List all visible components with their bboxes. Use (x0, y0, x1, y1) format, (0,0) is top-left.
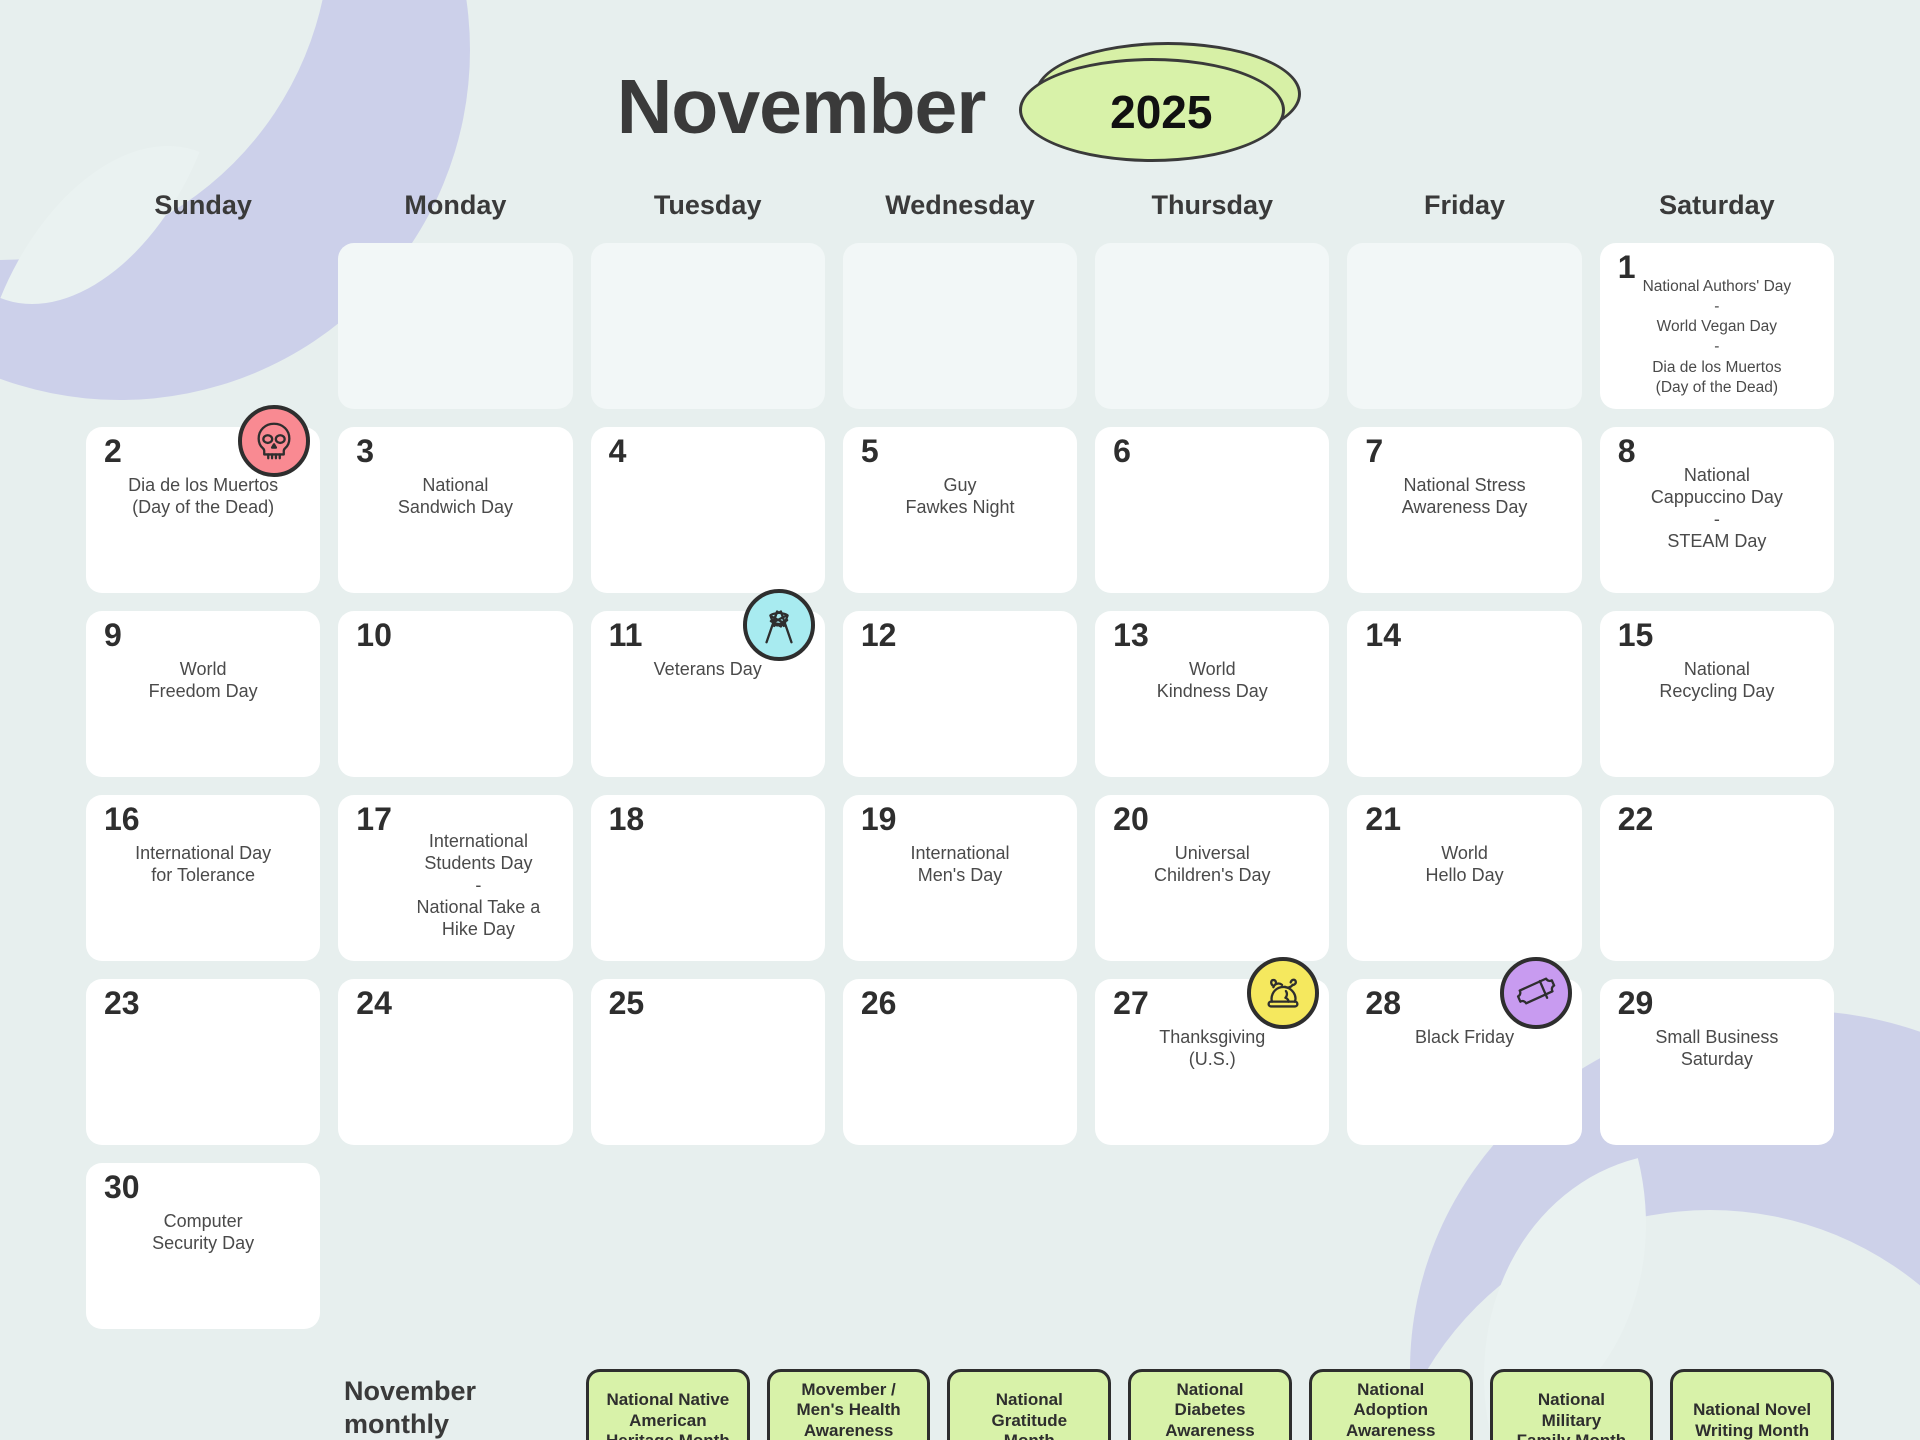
monthly-themes-section: November monthly themes and celebrations… (86, 1347, 1834, 1440)
day-number: 15 (1618, 619, 1654, 651)
year-label: 2025 (1110, 85, 1212, 139)
day-number: 30 (104, 1171, 140, 1203)
calendar-day-cell-16[interactable]: 16International Day for Tolerance (86, 795, 320, 961)
day-number: 24 (356, 987, 392, 1019)
day-number: 17 (356, 803, 392, 835)
day-number: 8 (1618, 435, 1636, 467)
monthly-themes-heading: November monthly themes and celebrations (344, 1347, 568, 1440)
day-number: 29 (1618, 987, 1654, 1019)
day-number: 11 (609, 619, 643, 651)
ticket-icon (1500, 957, 1572, 1029)
calendar-day-cell-empty (86, 243, 320, 409)
day-number: 22 (1618, 803, 1654, 835)
day-events: World Freedom Day (96, 659, 310, 703)
day-number: 23 (104, 987, 140, 1019)
calendar-day-cell-10[interactable]: 10 (338, 611, 572, 777)
calendar-day-cell-13[interactable]: 13World Kindness Day (1095, 611, 1329, 777)
monthly-theme-chip[interactable]: Movember / Men's Health Awareness Month (767, 1369, 931, 1440)
day-number: 27 (1113, 987, 1149, 1019)
day-events: Universal Children's Day (1105, 843, 1319, 887)
calendar-day-cell-22[interactable]: 22 (1600, 795, 1834, 961)
day-events: World Kindness Day (1105, 659, 1319, 703)
day-number: 2 (104, 435, 122, 467)
day-events: Computer Security Day (96, 1211, 310, 1255)
day-number: 28 (1365, 987, 1401, 1019)
calendar-day-cell-25[interactable]: 25 (591, 979, 825, 1145)
day-number: 4 (609, 435, 627, 467)
monthly-theme-chips: National Native American Heritage MonthM… (586, 1347, 1834, 1440)
month-title: November (617, 63, 986, 152)
skull-icon (238, 405, 310, 477)
year-badge: 2025 (1019, 48, 1303, 166)
calendar-day-cell-11[interactable]: 11Veterans Day (591, 611, 825, 777)
day-number: 19 (861, 803, 897, 835)
calendar-day-cell-3[interactable]: 3National Sandwich Day (338, 427, 572, 593)
calendar-day-cell-23[interactable]: 23 (86, 979, 320, 1145)
day-number: 9 (104, 619, 122, 651)
calendar-day-cell-8[interactable]: 8National Cappuccino Day - STEAM Day (1600, 427, 1834, 593)
calendar-grid: 1National Authors' Day - World Vegan Day… (86, 243, 1834, 1329)
day-number: 10 (356, 619, 392, 651)
calendar-day-cell-1[interactable]: 1National Authors' Day - World Vegan Day… (1600, 243, 1834, 409)
weekday-header-saturday: Saturday (1600, 190, 1834, 227)
calendar-day-cell-27[interactable]: 27Thanksgiving (U.S.) (1095, 979, 1329, 1145)
day-events: National Recycling Day (1610, 659, 1824, 703)
calendar-day-cell-19[interactable]: 19International Men's Day (843, 795, 1077, 961)
calendar-day-cell-26[interactable]: 26 (843, 979, 1077, 1145)
calendar-day-cell-5[interactable]: 5Guy Fawkes Night (843, 427, 1077, 593)
day-events: National Sandwich Day (348, 475, 562, 519)
calendar-day-cell-empty (591, 243, 825, 409)
calendar-day-cell-15[interactable]: 15National Recycling Day (1600, 611, 1834, 777)
monthly-theme-chip[interactable]: National Native American Heritage Month (586, 1369, 750, 1440)
calendar-day-cell-21[interactable]: 21World Hello Day (1347, 795, 1581, 961)
day-number: 18 (609, 803, 645, 835)
calendar-day-cell-9[interactable]: 9World Freedom Day (86, 611, 320, 777)
day-number: 25 (609, 987, 645, 1019)
day-number: 12 (861, 619, 897, 651)
monthly-theme-chip[interactable]: National Diabetes Awareness Month (1128, 1369, 1292, 1440)
weekday-header-row: SundayMondayTuesdayWednesdayThursdayFrid… (86, 190, 1834, 227)
day-events: International Day for Tolerance (96, 843, 310, 887)
weekday-header-thursday: Thursday (1095, 190, 1329, 227)
weekday-header-tuesday: Tuesday (591, 190, 825, 227)
monthly-theme-chip[interactable]: National Military Family Month (1490, 1369, 1654, 1440)
calendar-day-cell-20[interactable]: 20Universal Children's Day (1095, 795, 1329, 961)
day-events: National Stress Awareness Day (1357, 475, 1571, 519)
calendar-day-cell-28[interactable]: 28Black Friday (1347, 979, 1581, 1145)
day-events: Guy Fawkes Night (853, 475, 1067, 519)
weekday-header-monday: Monday (338, 190, 572, 227)
day-number: 7 (1365, 435, 1383, 467)
day-number: 26 (861, 987, 897, 1019)
calendar-day-cell-17[interactable]: 17International Students Day - National … (338, 795, 572, 961)
day-number: 16 (104, 803, 140, 835)
calendar-header: November 2025 (86, 0, 1834, 190)
calendar-day-cell-24[interactable]: 24 (338, 979, 572, 1145)
weekday-header-wednesday: Wednesday (843, 190, 1077, 227)
day-events: Veterans Day (601, 659, 815, 681)
calendar-day-cell-6[interactable]: 6 (1095, 427, 1329, 593)
crossed-flags-icon (743, 589, 815, 661)
calendar-day-cell-4[interactable]: 4 (591, 427, 825, 593)
weekday-header-friday: Friday (1347, 190, 1581, 227)
day-events: Dia de los Muertos (Day of the Dead) (96, 475, 310, 519)
day-events: Thanksgiving (U.S.) (1105, 1027, 1319, 1071)
day-events: Black Friday (1357, 1027, 1571, 1049)
day-number: 6 (1113, 435, 1131, 467)
day-events: World Hello Day (1357, 843, 1571, 887)
calendar-day-cell-empty (338, 243, 572, 409)
calendar-day-cell-2[interactable]: 2Dia de los Muertos (Day of the Dead) (86, 427, 320, 593)
weekday-header-sunday: Sunday (86, 190, 320, 227)
day-events: National Authors' Day - World Vegan Day … (1610, 277, 1824, 398)
day-events: International Students Day - National Ta… (394, 831, 562, 941)
calendar-page: November 2025 SundayMondayTuesdayWednesd… (0, 0, 1920, 1440)
day-number: 5 (861, 435, 879, 467)
day-number: 20 (1113, 803, 1149, 835)
calendar-day-cell-29[interactable]: 29Small Business Saturday (1600, 979, 1834, 1145)
day-number: 14 (1365, 619, 1401, 651)
day-events: National Cappuccino Day - STEAM Day (1610, 465, 1824, 553)
calendar-day-cell-12[interactable]: 12 (843, 611, 1077, 777)
calendar-day-cell-empty (1095, 243, 1329, 409)
calendar-day-cell-empty (1347, 243, 1581, 409)
monthly-theme-chip[interactable]: National Adoption Awareness Month (1309, 1369, 1473, 1440)
monthly-theme-chip[interactable]: National Gratitude Month (947, 1369, 1111, 1440)
calendar-day-cell-empty (843, 243, 1077, 409)
day-number: 3 (356, 435, 374, 467)
day-events: Small Business Saturday (1610, 1027, 1824, 1071)
turkey-icon (1247, 957, 1319, 1029)
day-number: 13 (1113, 619, 1149, 651)
calendar-day-cell-14[interactable]: 14 (1347, 611, 1581, 777)
calendar-day-cell-30[interactable]: 30Computer Security Day (86, 1163, 320, 1329)
monthly-theme-chip[interactable]: National Novel Writing Month (1670, 1369, 1834, 1440)
calendar-day-cell-18[interactable]: 18 (591, 795, 825, 961)
calendar-day-cell-7[interactable]: 7National Stress Awareness Day (1347, 427, 1581, 593)
day-events: International Men's Day (853, 843, 1067, 887)
day-number: 21 (1365, 803, 1401, 835)
